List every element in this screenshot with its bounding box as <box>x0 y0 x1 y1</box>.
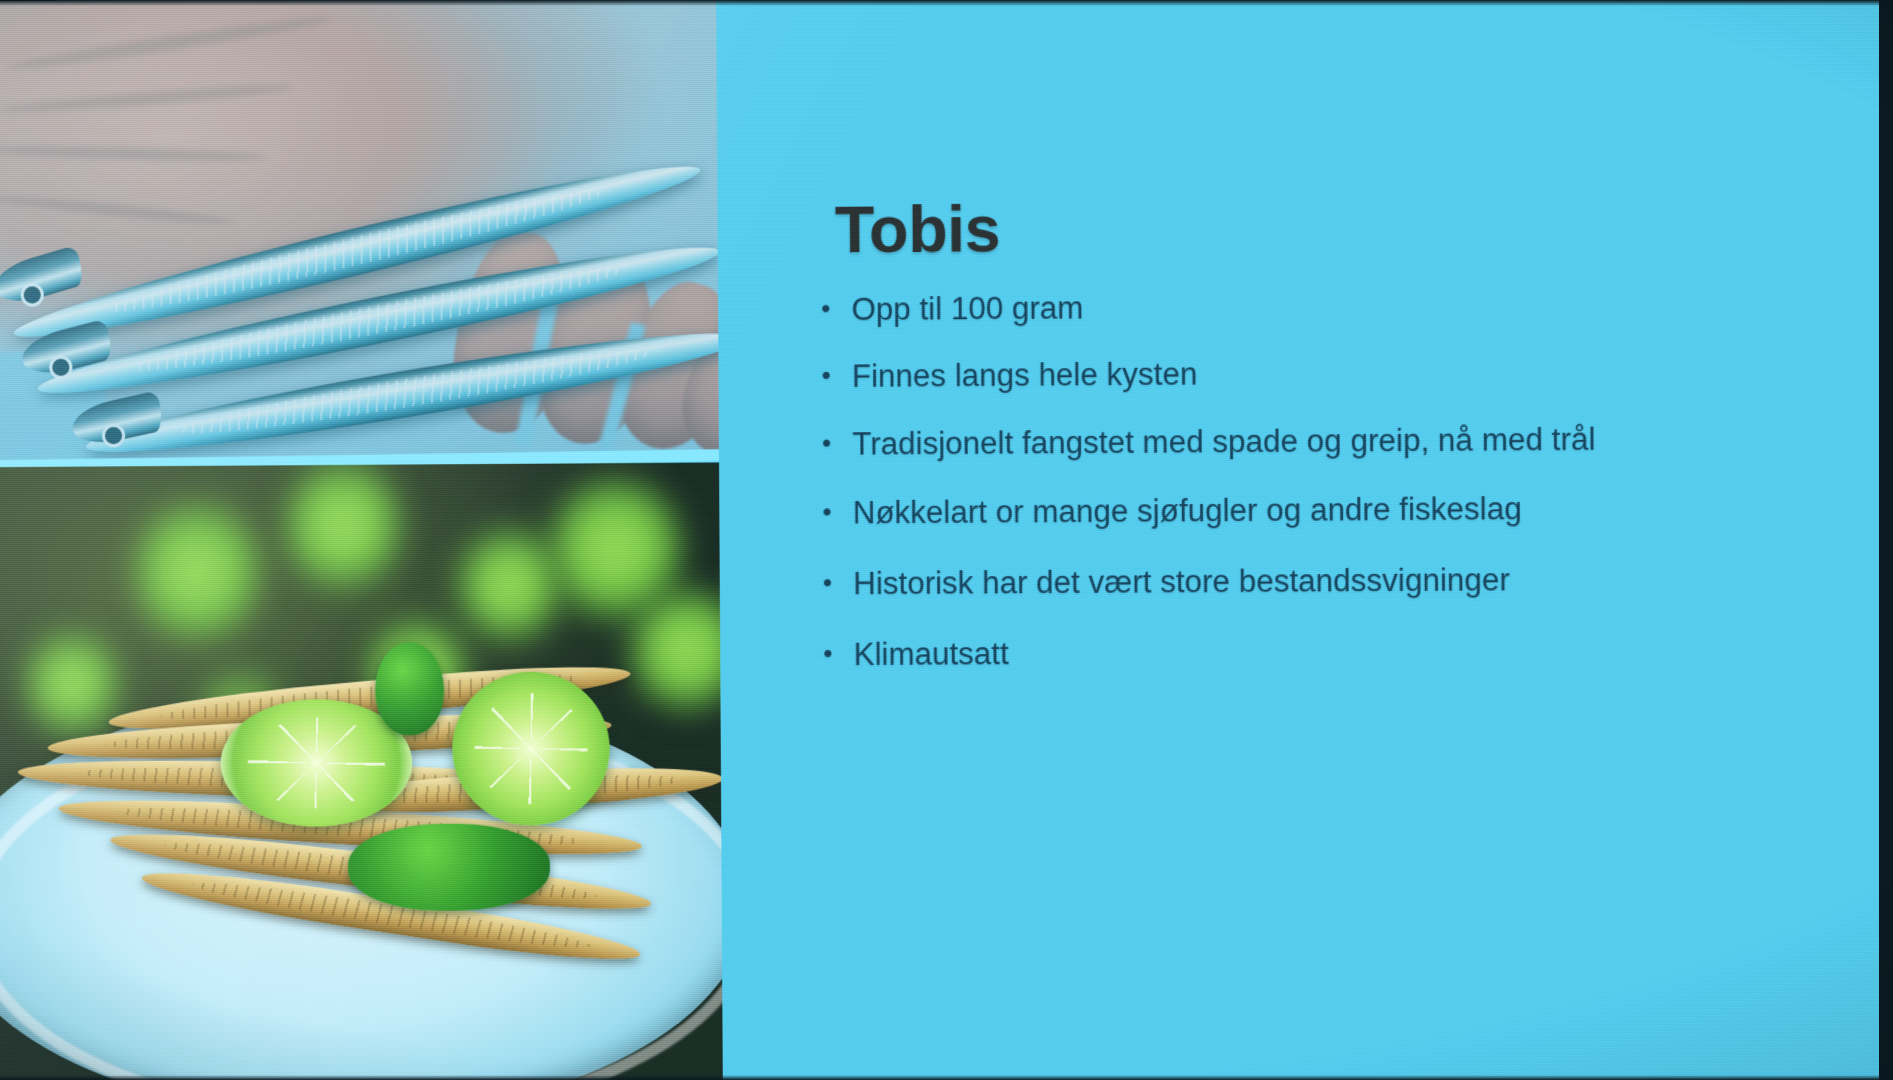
bullet-marker-icon: • <box>822 493 853 531</box>
list-item-label: Klimautsatt <box>854 629 1879 676</box>
list-item-label: Historisk har det vært store bestandssvi… <box>853 558 1878 605</box>
list-item: • Finnes langs hele kysten <box>821 350 1893 398</box>
list-item-label: Nøkkelart or mange sjøfugler og andre fi… <box>853 486 1878 533</box>
bullet-marker-icon: • <box>822 424 853 462</box>
presentation-slide: Tobis • Opp til 100 gram • Finnes langs … <box>0 0 1893 1080</box>
bullet-marker-icon: • <box>823 564 854 602</box>
list-item: • Tradisjonelt fangstet med spade og gre… <box>822 417 1893 465</box>
blue-color-cast <box>0 463 723 1080</box>
list-item: • Historisk har det vært store bestandss… <box>823 558 1893 605</box>
list-item-label: Opp til 100 gram <box>851 282 1876 330</box>
page-title: Tobis <box>835 191 1001 267</box>
slide-text-panel: Tobis • Opp til 100 gram • Finnes langs … <box>722 0 1893 1080</box>
bullet-marker-icon: • <box>823 635 854 673</box>
fried-fish-plate-photo <box>0 463 723 1080</box>
list-item-label: Finnes langs hele kysten <box>852 350 1877 398</box>
list-item: • Opp til 100 gram <box>821 282 1893 330</box>
bullet-marker-icon: • <box>821 290 852 328</box>
list-item: • Nøkkelart or mange sjøfugler og andre … <box>822 486 1893 534</box>
slide-image-column <box>0 0 723 1080</box>
list-item-label: Tradisjonelt fangstet med spade og greip… <box>852 417 1877 464</box>
list-item: • Klimautsatt <box>823 629 1893 676</box>
bullet-marker-icon: • <box>821 357 852 395</box>
sand-eels-in-hand-photo <box>0 0 719 463</box>
bullet-list: • Opp til 100 gram • Finnes langs hele k… <box>821 282 1893 702</box>
projected-slide-photo: Tobis • Opp til 100 gram • Finnes langs … <box>0 0 1893 1080</box>
blue-color-cast <box>0 0 719 463</box>
